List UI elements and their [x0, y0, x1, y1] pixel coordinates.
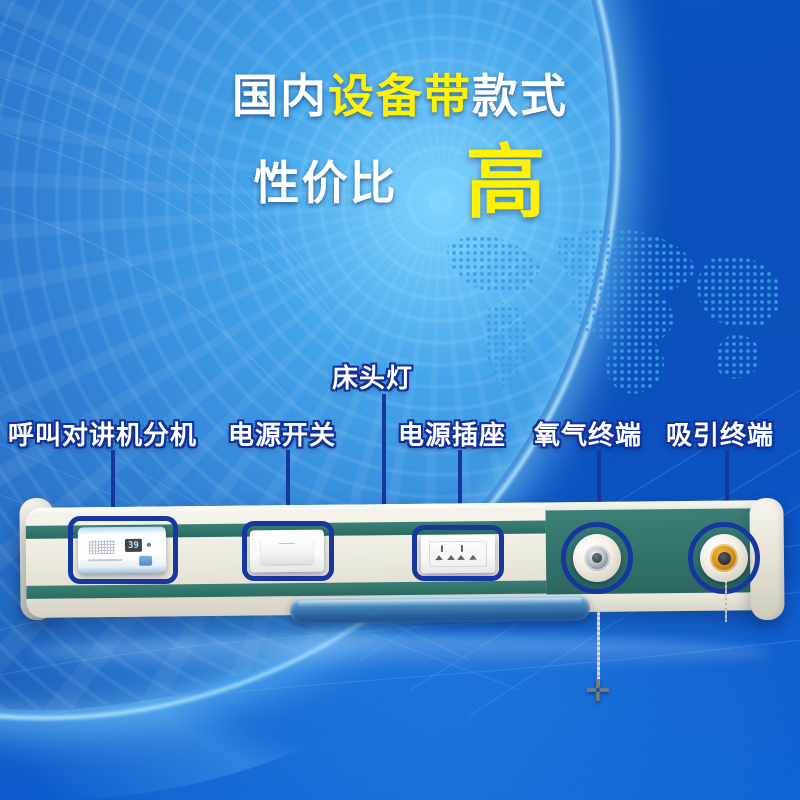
headline-line2-text: 性价比	[254, 157, 398, 209]
callout-label-power-switch: 电源开关	[228, 415, 336, 452]
headline-line2-emphasis: 高	[466, 138, 547, 227]
callout-label-power-socket: 电源插座	[398, 415, 506, 452]
callout-label-bed-lamp: 床头灯	[332, 358, 413, 395]
callout-label-oxygen-terminal: 氧气终端	[534, 415, 642, 452]
poster-canvas: 国内设备带款式 性价比高 呼叫对讲机分机 电源开关 床头灯 电源插座 氧气终端 …	[0, 0, 800, 800]
highlight-box-power-switch	[242, 521, 334, 581]
callout-label-intercom: 呼叫对讲机分机	[8, 415, 197, 452]
headline-block: 国内设备带款式 性价比高	[0, 72, 800, 223]
highlight-box-intercom	[68, 516, 178, 584]
dotted-world-map	[430, 215, 800, 430]
pull-cord-handle-icon[interactable]: ✛	[584, 678, 612, 706]
headline-line-2: 性价比高	[0, 143, 800, 223]
highlight-circle-oxygen-terminal	[561, 522, 633, 594]
headline-line1-part2: 款式	[472, 70, 568, 122]
product-reflection	[30, 636, 770, 670]
highlight-box-power-socket	[412, 525, 504, 581]
headline-line-1: 国内设备带款式	[0, 72, 800, 121]
bed-lamp-diffuser[interactable]	[290, 594, 590, 623]
callout-label-suction-terminal: 吸引终端	[666, 415, 774, 452]
headline-line1-part1: 国内	[232, 70, 328, 122]
headline-line1-highlight: 设备带	[328, 70, 472, 122]
suction-cord-line	[725, 580, 727, 622]
highlight-circle-suction-terminal	[688, 522, 760, 594]
